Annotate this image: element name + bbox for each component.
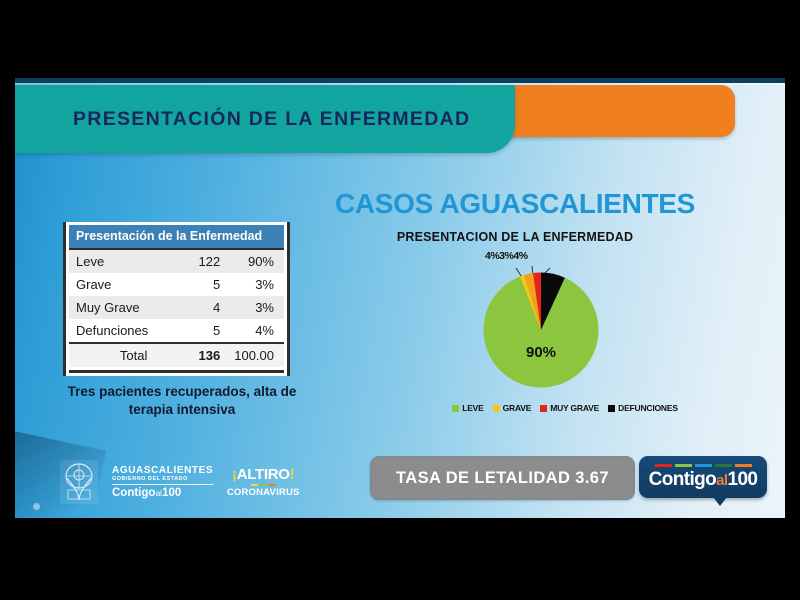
video-letterbox-frame: PRESENTACIÓN DE LA ENFERMEDAD Presentaci… — [0, 0, 800, 600]
legend-label: GRAVE — [503, 403, 532, 413]
cell-count: 5 — [183, 273, 227, 296]
altiro-bang-right: ! — [290, 466, 295, 483]
recovered-patients-note: Tres pacientes recuperados, alta de tera… — [67, 383, 297, 419]
altiro-subtitle: CORONAVIRUS — [227, 487, 300, 498]
cell-percent: 90% — [227, 249, 284, 273]
altiro-coronavirus-logo: ¡ALTIRO! CORONAVIRUS — [227, 461, 299, 503]
pie-slices — [483, 273, 598, 388]
altiro-wordmark: ¡ALTIRO! — [232, 466, 294, 483]
cell-label: Grave — [69, 273, 183, 296]
cell-count: 4 — [183, 296, 227, 319]
legend-label: LEVE — [462, 403, 483, 413]
cell-total-percent: 100.00 — [227, 343, 284, 367]
letality-rate-text: TASA DE LETALIDAD 3.67 — [396, 469, 609, 488]
table-row: Defunciones 5 4% — [69, 319, 284, 343]
legend-item-defunciones: DEFUNCIONES — [608, 403, 678, 413]
badge-num: 100 — [727, 469, 757, 490]
gov-tagline: Contigoal100 — [112, 487, 181, 499]
chart-subtitle: PRESENTACION DE LA ENFERMEDAD — [315, 230, 715, 244]
legend-item-grave: GRAVE — [493, 403, 532, 413]
pie-chart: 90% — [480, 266, 602, 388]
badge-dashes-decoration — [655, 464, 752, 467]
cell-label: Muy Grave — [69, 296, 183, 319]
legend-swatch-icon — [493, 405, 500, 412]
table-row: Muy Grave 4 3% — [69, 296, 284, 319]
cell-percent: 3% — [227, 296, 284, 319]
header-teal-banner: PRESENTACIÓN DE LA ENFERMEDAD — [15, 85, 515, 153]
table-total-row: Total 136 100.00 — [69, 343, 284, 367]
legend-item-leve: LEVE — [452, 403, 483, 413]
legend-swatch-icon — [608, 405, 615, 412]
pie-chart-svg — [480, 266, 602, 388]
gov-name: AGUASCALIENTES — [112, 465, 213, 476]
table-row: Grave 5 3% — [69, 273, 284, 296]
decorative-corner-dot — [33, 503, 40, 510]
government-logo: AGUASCALIENTES GOBIERNO DEL ESTADO Conti… — [112, 465, 213, 499]
legend-label: DEFUNCIONES — [618, 403, 678, 413]
legend-swatch-icon — [540, 405, 547, 412]
cell-label: Leve — [69, 249, 183, 273]
disease-presentation-table: Presentación de la Enfermedad Leve 122 9… — [63, 222, 290, 376]
chart-title: CASOS AGUASCALIENTES — [315, 188, 715, 220]
cell-percent: 4% — [227, 319, 284, 343]
table-head: Presentación de la Enfermedad — [69, 225, 284, 249]
gov-tagline-main: Contigo — [112, 487, 155, 499]
table-header-cell: Presentación de la Enfermedad — [69, 225, 284, 249]
footer-logo-group: AGUASCALIENTES GOBIERNO DEL ESTADO Conti… — [60, 460, 299, 504]
altiro-dashes-decoration — [251, 484, 276, 486]
legend-swatch-icon — [452, 405, 459, 412]
cell-percent: 3% — [227, 273, 284, 296]
cell-label: Defunciones — [69, 319, 183, 343]
altiro-text: ALTIRO — [237, 466, 290, 483]
table: Presentación de la Enfermedad Leve 122 9… — [69, 225, 284, 367]
table-body: Leve 122 90% Grave 5 3% Muy Grave 4 3% — [69, 249, 284, 367]
legend-label: MUY GRAVE — [550, 403, 599, 413]
badge-main: Contigo — [649, 469, 717, 490]
cell-count: 122 — [183, 249, 227, 273]
cell-count: 5 — [183, 319, 227, 343]
legend-item-muy-grave: MUY GRAVE — [540, 403, 599, 413]
gov-divider — [112, 484, 213, 485]
table-header-row: Presentación de la Enfermedad — [69, 225, 284, 249]
cell-total-count: 136 — [183, 343, 227, 367]
pie-outside-data-labels: 4%3%4% — [485, 250, 528, 262]
table-bottom-rule — [69, 370, 284, 373]
badge-al: al — [716, 472, 727, 489]
chart-legend: LEVE GRAVE MUY GRAVE DEFUNCIONES — [420, 403, 710, 413]
page-title: PRESENTACIÓN DE LA ENFERMEDAD — [73, 108, 470, 131]
presentation-slide: PRESENTACIÓN DE LA ENFERMEDAD Presentaci… — [15, 78, 785, 518]
cell-total-label: Total — [69, 343, 183, 367]
letality-rate-box: TASA DE LETALIDAD 3.67 — [370, 456, 635, 500]
pie-center-data-label: 90% — [480, 344, 602, 361]
coat-of-arms-icon — [60, 460, 98, 504]
contigo-al-100-badge: Contigoal100 — [639, 456, 767, 498]
badge-wordmark: Contigoal100 — [649, 469, 758, 491]
table-row: Leve 122 90% — [69, 249, 284, 273]
gov-subtitle: GOBIERNO DEL ESTADO — [112, 476, 188, 482]
gov-tagline-num: 100 — [162, 487, 181, 499]
